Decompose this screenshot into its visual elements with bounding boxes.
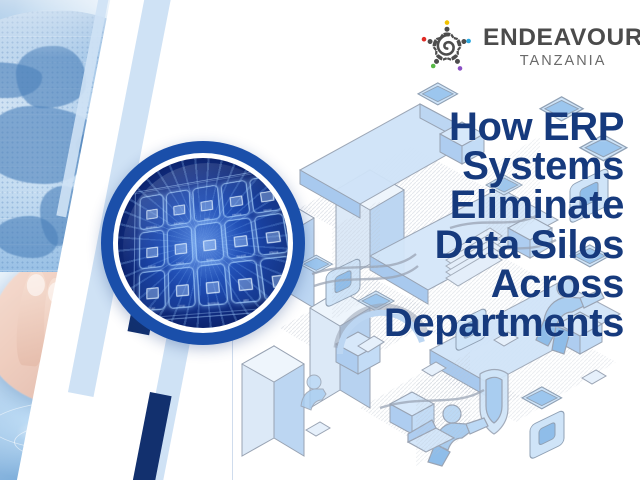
app-icon[interactable]: Security — [166, 189, 192, 227]
headline-line-1: How ERP — [224, 108, 624, 147]
continent-shape — [0, 216, 58, 258]
app-icon[interactable]: Cloud — [139, 230, 164, 269]
brand-name: ENDEAVOUR — [483, 26, 640, 51]
headline-line-3: Eliminate — [224, 186, 624, 225]
app-icon[interactable]: Chat — [167, 266, 196, 309]
app-icon-label: Notes — [197, 257, 223, 263]
app-icon[interactable]: Notes — [195, 222, 225, 263]
endeavour-spiral-people-logo-icon — [420, 20, 474, 74]
fingernail — [26, 273, 46, 296]
logo-dot-purple — [458, 66, 463, 71]
logo-dot-yellow — [445, 20, 450, 25]
app-icon[interactable]: Users — [166, 226, 193, 266]
logo-dot-red — [422, 37, 427, 42]
app-icon[interactable]: Chart — [139, 269, 166, 311]
app-icon-label: Users — [168, 260, 193, 266]
app-icon[interactable]: Shopping — [139, 194, 163, 231]
slide-canvas: Shopping Security Mail Photos Music Clou… — [0, 0, 640, 480]
brand-logo[interactable]: ENDEAVOUR TANZANIA — [420, 18, 620, 76]
headline-line-2: Systems — [224, 147, 624, 186]
continent-shape — [16, 46, 86, 108]
page-title: How ERP Systems Eliminate Data Silos Acr… — [224, 108, 624, 343]
headline-line-5: Across — [224, 265, 624, 304]
headline-line-4: Data Silos — [224, 226, 624, 265]
brand-region: TANZANIA — [483, 54, 640, 69]
logo-dot-green — [431, 64, 436, 69]
app-icon-label: Cloud — [140, 264, 163, 270]
brand-wordmark: ENDEAVOUR TANZANIA — [483, 26, 640, 68]
logo-dot-blue — [466, 39, 471, 44]
headline-line-6: Departments — [224, 304, 624, 343]
app-icon[interactable]: Mail — [192, 184, 220, 222]
